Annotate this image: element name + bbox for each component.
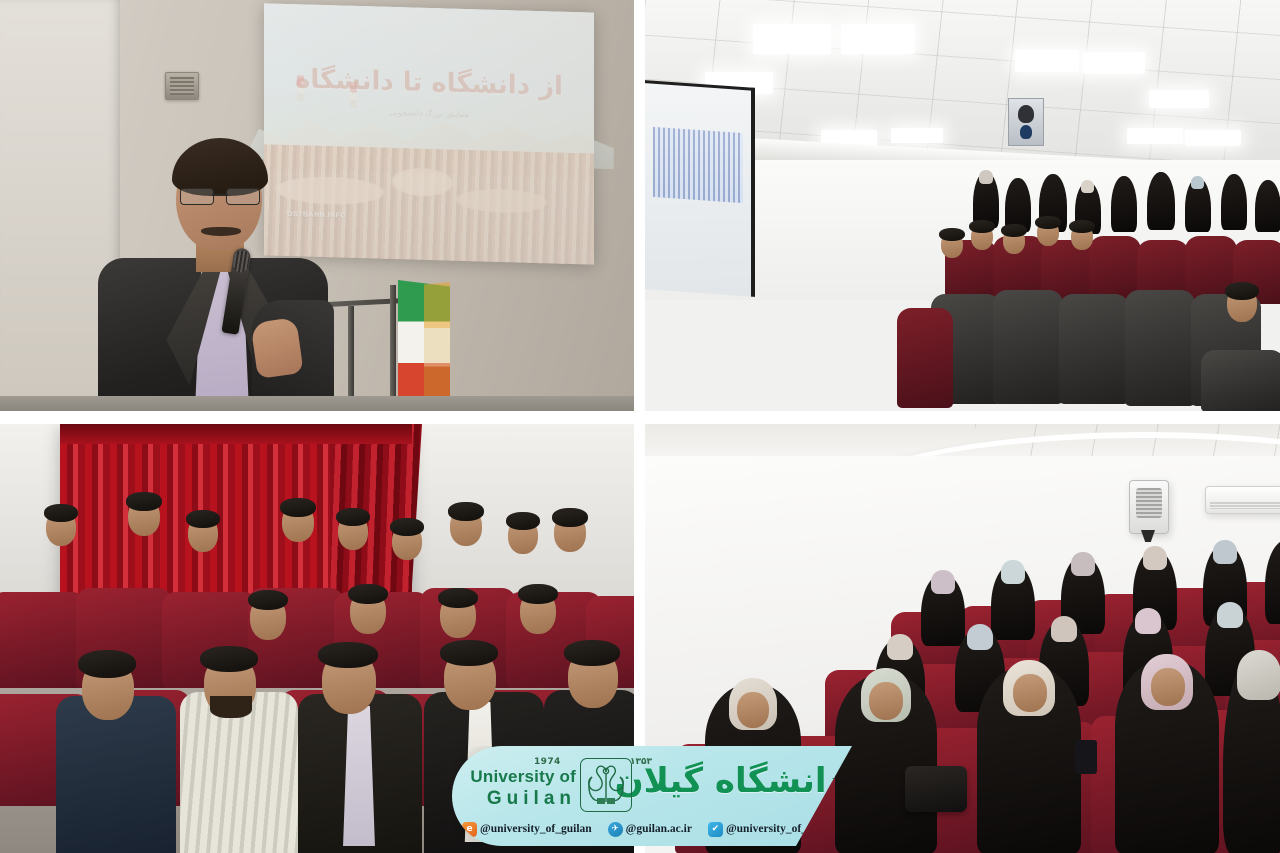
audience-left-block <box>935 206 1135 296</box>
seat-foreground-right <box>1201 350 1280 411</box>
slide-watermark: OSTBAHN.INFO <box>287 211 346 220</box>
headscarf <box>1001 560 1025 584</box>
social-links: e @university_of_guilan ✈ @guilan.ac.ir … <box>462 818 842 840</box>
ceiling-light <box>1127 128 1183 144</box>
headscarf <box>931 570 955 594</box>
photo-top-right <box>645 0 1280 411</box>
social-link-telegram[interactable]: ✈ @guilan.ac.ir <box>608 822 692 837</box>
headscarf <box>1135 608 1161 634</box>
photo-collage: از دانشگاه تا دانشگاه همایش بزرگ دانشجوی… <box>0 0 1280 853</box>
attendee-hair <box>200 646 258 672</box>
air-conditioner-icon <box>1205 486 1280 514</box>
attendee-face <box>1151 668 1185 706</box>
attendee-face <box>1013 674 1047 712</box>
headscarf <box>979 170 993 184</box>
ceiling-light <box>1015 50 1079 72</box>
university-name-en-line1: University of <box>466 767 576 786</box>
flag-pole <box>390 285 396 411</box>
attendee-hair <box>1069 220 1095 233</box>
seat <box>1059 294 1129 404</box>
attendee-hair <box>280 498 316 517</box>
iran-flag-fold <box>424 282 450 410</box>
ceiling-light <box>841 24 915 54</box>
headscarf <box>887 634 913 660</box>
guilan-university-emblem-icon <box>580 758 632 812</box>
photo-top-left: از دانشگاه تا دانشگاه همایش بزرگ دانشجوی… <box>0 0 634 411</box>
attendee-hair <box>390 518 424 536</box>
social-handle-telegram: @guilan.ac.ir <box>626 823 692 835</box>
seat <box>993 290 1063 404</box>
ceiling-light <box>753 24 831 54</box>
attendee-hair <box>44 504 78 522</box>
attendee-hair <box>126 492 162 511</box>
social-link-eitaa[interactable]: e @university_of_guilan <box>462 822 592 837</box>
attendee-hair <box>186 510 220 528</box>
attendee-hair <box>1001 224 1027 237</box>
speaker-hand <box>250 317 303 379</box>
framed-portrait <box>1008 98 1044 146</box>
attendee-hair <box>336 508 370 526</box>
seat <box>1201 350 1280 411</box>
headscarf <box>1213 540 1237 564</box>
attendee-hair <box>506 512 540 530</box>
headscarf <box>1237 650 1280 700</box>
headscarf <box>1217 602 1243 628</box>
founding-year-gregorian: 1974 <box>534 757 561 767</box>
ceiling-light <box>1083 52 1145 74</box>
attendee-hair <box>939 228 965 241</box>
ceiling-light <box>891 128 943 143</box>
headscarf <box>967 624 993 650</box>
university-name-en-line2: Guilan <box>466 788 576 809</box>
wall-speaker-icon <box>1129 480 1169 534</box>
telegram-icon: ✈ <box>608 822 623 837</box>
handbag <box>905 766 967 812</box>
attendee-hair <box>348 584 388 604</box>
ceiling-light <box>1185 130 1241 146</box>
attendee-hair <box>78 650 136 678</box>
attendee-face <box>869 682 903 720</box>
headscarf <box>1051 616 1077 642</box>
attendee-hair <box>552 508 588 527</box>
social-handle-eitaa: @university_of_guilan <box>480 823 592 835</box>
attendee-hair <box>1035 216 1061 229</box>
attendee-hair <box>518 584 558 604</box>
speaker-glasses-bridge <box>212 194 228 196</box>
attendee-hair <box>448 502 484 521</box>
twitter-icon: ✔ <box>708 822 723 837</box>
speaker-glasses-icon <box>180 188 260 204</box>
projected-slide <box>653 127 743 203</box>
headscarf <box>1071 552 1095 576</box>
university-name-fa: دانشگاه گیلان <box>638 752 844 814</box>
headscarf <box>1143 546 1167 570</box>
slide-crowd <box>264 145 594 265</box>
attendee-face <box>737 692 769 728</box>
founding-year-solar: ۱۳۵۳ <box>630 757 652 767</box>
attendee-hair <box>564 640 620 666</box>
eitaa-icon: e <box>462 822 477 837</box>
attendee-hair <box>438 588 478 608</box>
attendee-hair <box>969 220 995 233</box>
attendee-beard <box>210 696 252 718</box>
headscarf <box>1191 176 1204 189</box>
attendee-hair <box>248 590 288 610</box>
attendee-hair <box>440 640 498 666</box>
ceiling-light <box>1149 90 1209 108</box>
curtain-valance <box>60 424 412 444</box>
university-logo-banner: دانشگاه گیلان 1974 ۱۳۵۳ University of Gu… <box>452 746 852 846</box>
seat <box>1125 290 1195 406</box>
projection-screen: از دانشگاه تا دانشگاه همایش بزرگ دانشجوی… <box>264 3 594 264</box>
wall-vent-icon <box>165 72 199 100</box>
attendee-hair <box>1225 282 1259 300</box>
speaker-mustache <box>201 227 241 236</box>
seat <box>897 308 953 408</box>
attendee-jacket <box>56 696 176 853</box>
headscarf <box>1081 180 1094 193</box>
mobile-phone-icon <box>1075 740 1097 774</box>
attendee-hair <box>318 642 378 668</box>
floor-strip <box>0 396 634 411</box>
